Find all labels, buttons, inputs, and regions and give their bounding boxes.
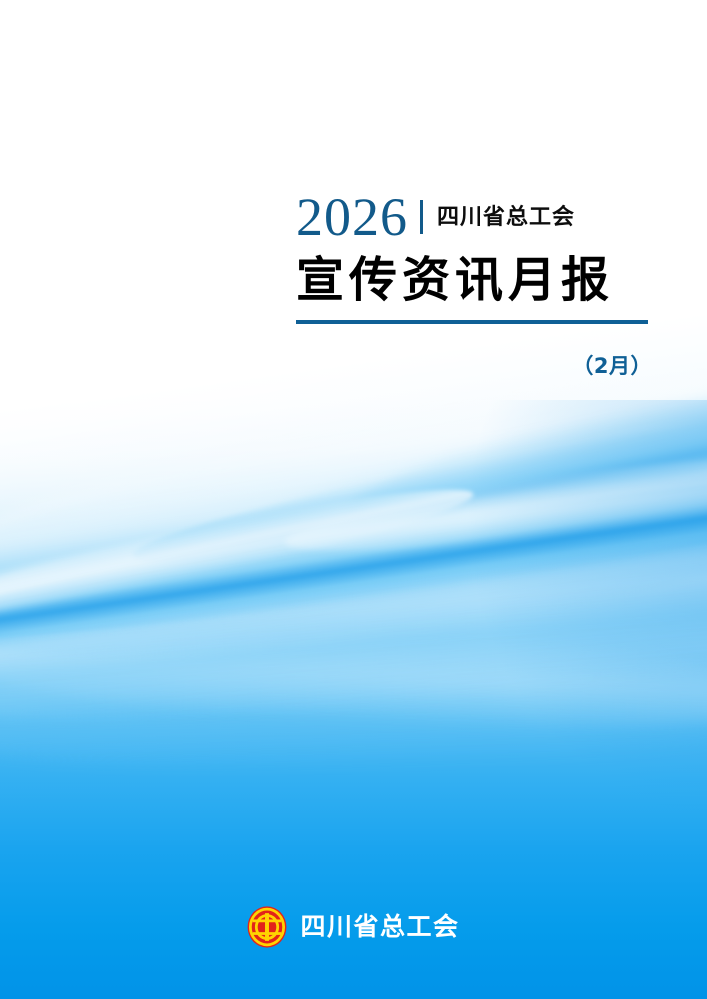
year-and-organization-row: 2026 四川省总工会 [296, 186, 652, 248]
footer-branding: 四川省总工会 [0, 906, 707, 948]
acftu-union-emblem-icon [247, 906, 287, 948]
vertical-divider [420, 200, 423, 234]
background-artwork [0, 0, 707, 999]
cover-year: 2026 [296, 190, 408, 244]
issue-month: （2月） [296, 350, 652, 380]
cover-title-block: 2026 四川省总工会 宣传资讯月报 （2月） [296, 186, 652, 380]
footer-organization-name: 四川省总工会 [300, 913, 459, 941]
report-cover-page: 2026 四川省总工会 宣传资讯月报 （2月） 四川省总工会 [0, 0, 707, 999]
title-underline-rule [296, 320, 648, 324]
page-title: 宣传资讯月报 [296, 250, 652, 310]
organization-name: 四川省总工会 [437, 205, 575, 229]
